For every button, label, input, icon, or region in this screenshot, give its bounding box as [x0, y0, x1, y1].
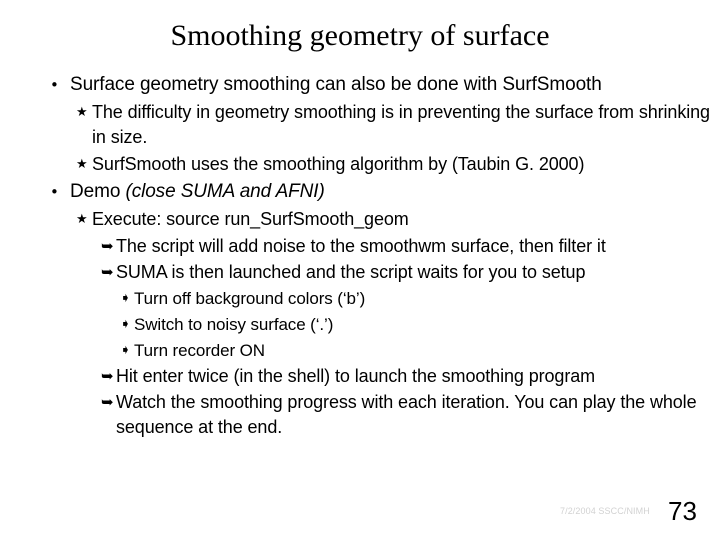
- page-title: Smoothing geometry of surface: [0, 18, 720, 54]
- presentation-slide: Smoothing geometry of surface •Surface g…: [0, 0, 720, 540]
- bullet-marker-level-4-icon: ➧: [120, 286, 134, 311]
- outline-item-text: Hit enter twice (in the shell) to launch…: [116, 364, 720, 389]
- outline-item-level-4: ➧Turn recorder ON: [0, 338, 720, 363]
- outline-item-level-1: •Surface geometry smoothing can also be …: [0, 72, 720, 98]
- outline-item-text-plain: The script will add noise to the smoothw…: [116, 236, 606, 256]
- outline-item-text-italic: (close SUMA and AFNI): [125, 181, 324, 202]
- outline-item-text: Turn off background colors (‘b’): [134, 286, 720, 311]
- outline-item-level-3: ➥Hit enter twice (in the shell) to launc…: [0, 364, 720, 389]
- outline-item-text-plain: The difficulty in geometry smoothing is …: [92, 102, 710, 147]
- outline-item-text-plain: Hit enter twice (in the shell) to launch…: [116, 366, 595, 386]
- bullet-marker-level-4-icon: ➧: [120, 312, 134, 337]
- bullet-marker-level-1-icon: •: [50, 179, 70, 205]
- outline-item-text: Execute: source run_SurfSmooth_geom: [92, 207, 720, 232]
- outline-item-text: Demo (close SUMA and AFNI): [70, 179, 720, 205]
- outline-item-level-2: ★The difficulty in geometry smoothing is…: [0, 100, 720, 150]
- bullet-marker-level-2-icon: ★: [76, 152, 92, 177]
- outline-item-text-plain: Turn recorder ON: [134, 341, 265, 360]
- outline-item-level-1: •Demo (close SUMA and AFNI): [0, 179, 720, 205]
- bullet-marker-level-3-icon: ➥: [101, 260, 116, 285]
- outline-item-text: SurfSmooth uses the smoothing algorithm …: [92, 152, 720, 177]
- footer-date-label: 7/2/2004 SSCC/NIMH: [560, 505, 650, 517]
- slide-body-outline: •Surface geometry smoothing can also be …: [0, 72, 720, 441]
- bullet-marker-level-2-icon: ★: [76, 100, 92, 125]
- outline-item-text-plain: Turn off background colors (‘b’): [134, 289, 365, 308]
- bullet-marker-level-3-icon: ➥: [101, 364, 116, 389]
- bullet-marker-level-2-icon: ★: [76, 207, 92, 232]
- outline-item-text-plain: Demo: [70, 181, 125, 202]
- page-number: 73: [668, 496, 697, 526]
- outline-item-text-plain: Surface geometry smoothing can also be d…: [70, 74, 602, 95]
- outline-item-text-plain: Switch to noisy surface (‘.’): [134, 315, 333, 334]
- outline-item-level-3: ➥The script will add noise to the smooth…: [0, 234, 720, 259]
- outline-item-text: SUMA is then launched and the script wai…: [116, 260, 720, 285]
- outline-item-text-plain: Watch the smoothing progress with each i…: [116, 392, 696, 437]
- outline-item-text: Surface geometry smoothing can also be d…: [70, 72, 720, 98]
- outline-item-text-plain: SUMA is then launched and the script wai…: [116, 262, 585, 282]
- outline-item-level-2: ★SurfSmooth uses the smoothing algorithm…: [0, 152, 720, 177]
- outline-item-level-4: ➧Turn off background colors (‘b’): [0, 286, 720, 311]
- outline-item-level-2: ★Execute: source run_SurfSmooth_geom: [0, 207, 720, 232]
- bullet-marker-level-3-icon: ➥: [101, 390, 116, 415]
- bullet-marker-level-3-icon: ➥: [101, 234, 116, 259]
- outline-item-text: The script will add noise to the smoothw…: [116, 234, 720, 259]
- outline-item-level-3: ➥Watch the smoothing progress with each …: [0, 390, 720, 440]
- outline-item-text: The difficulty in geometry smoothing is …: [92, 100, 720, 150]
- outline-item-level-4: ➧Switch to noisy surface (‘.’): [0, 312, 720, 337]
- bullet-marker-level-4-icon: ➧: [120, 338, 134, 363]
- outline-item-text: Switch to noisy surface (‘.’): [134, 312, 720, 337]
- bullet-marker-level-1-icon: •: [50, 72, 70, 98]
- outline-item-text-plain: SurfSmooth uses the smoothing algorithm …: [92, 154, 584, 174]
- outline-item-text: Watch the smoothing progress with each i…: [116, 390, 720, 440]
- outline-item-level-3: ➥SUMA is then launched and the script wa…: [0, 260, 720, 285]
- outline-item-text: Turn recorder ON: [134, 338, 720, 363]
- outline-item-text-plain: Execute: source run_SurfSmooth_geom: [92, 209, 409, 229]
